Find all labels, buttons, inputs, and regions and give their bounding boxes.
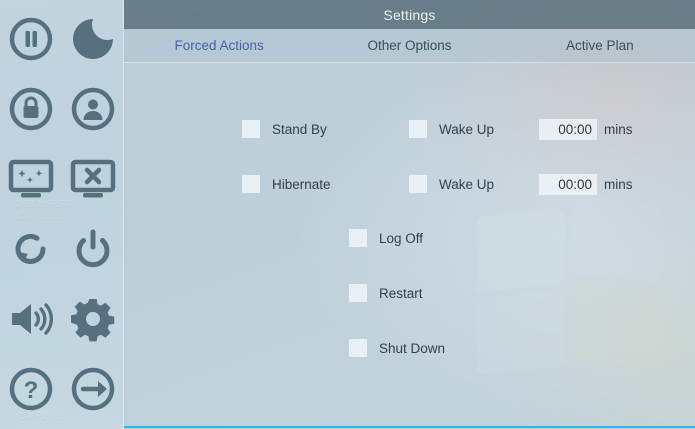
- user-icon: [70, 86, 116, 132]
- page-title: Settings: [383, 7, 435, 23]
- row-hibernate-timer: 00:00 mins: [539, 172, 633, 196]
- row-stand-by: Stand By: [242, 117, 327, 141]
- moon-icon: [70, 16, 116, 62]
- row-hibernate-wake: Wake Up: [409, 172, 494, 196]
- desktop-background: Freewa... OST to PST Converte... SMPlaye…: [0, 0, 695, 429]
- rail-button-lock[interactable]: [3, 81, 59, 137]
- hibernate-timer-units: mins: [604, 177, 633, 192]
- tab-bar: Forced Actions Other Options Active Plan: [124, 29, 695, 63]
- monitor-off-icon: [69, 157, 117, 201]
- restart-arrow-icon: [8, 226, 54, 272]
- rail-button-clean-screen[interactable]: [3, 151, 59, 207]
- arrow-right-icon: [70, 366, 116, 412]
- monitor-clean-icon: [7, 157, 55, 201]
- forced-actions-content: Stand By Wake Up 00:00 mins Hibernate: [124, 63, 695, 428]
- rail-button-help[interactable]: ?: [3, 361, 59, 417]
- pause-icon: [8, 16, 54, 62]
- shut-down-label: Shut Down: [379, 341, 445, 356]
- help-icon: ?: [8, 366, 54, 412]
- volume-icon: [7, 297, 55, 341]
- title-bar: Settings: [124, 0, 695, 29]
- row-shut-down: Shut Down: [349, 336, 445, 360]
- rail-button-settings[interactable]: [65, 291, 121, 347]
- row-stand-by-wake: Wake Up: [409, 117, 494, 141]
- icon-rail: ?: [0, 0, 124, 429]
- rail-button-volume[interactable]: [3, 291, 59, 347]
- restart-label: Restart: [379, 286, 423, 301]
- hibernate-checkbox[interactable]: [242, 175, 260, 193]
- gear-icon: [70, 296, 116, 342]
- stand-by-wake-option: Wake Up: [409, 120, 494, 138]
- stand-by-option: Stand By: [242, 120, 327, 138]
- stand-by-timer-units: mins: [604, 122, 633, 137]
- stand-by-wake-label: Wake Up: [439, 122, 494, 137]
- stand-by-timer-input[interactable]: 00:00: [539, 119, 597, 140]
- hibernate-label: Hibernate: [272, 177, 331, 192]
- tab-other-options[interactable]: Other Options: [314, 38, 504, 53]
- rail-button-log-off[interactable]: [65, 361, 121, 417]
- svg-text:?: ?: [24, 377, 39, 404]
- rail-button-turn-off-monitor[interactable]: [65, 151, 121, 207]
- rail-button-switch-user[interactable]: [65, 81, 121, 137]
- restart-checkbox[interactable]: [349, 284, 367, 302]
- rail-button-power[interactable]: [65, 221, 121, 277]
- hibernate-option: Hibernate: [242, 175, 331, 193]
- stand-by-wake-checkbox[interactable]: [409, 120, 427, 138]
- hibernate-wake-label: Wake Up: [439, 177, 494, 192]
- shut-down-checkbox[interactable]: [349, 339, 367, 357]
- row-log-off: Log Off: [349, 226, 423, 250]
- tab-forced-actions[interactable]: Forced Actions: [124, 38, 314, 53]
- tab-active-plan[interactable]: Active Plan: [505, 38, 695, 53]
- row-hibernate: Hibernate: [242, 172, 331, 196]
- settings-panel: Settings Forced Actions Other Options Ac…: [124, 0, 695, 429]
- lock-icon: [8, 86, 54, 132]
- log-off-checkbox[interactable]: [349, 229, 367, 247]
- hibernate-wake-checkbox[interactable]: [409, 175, 427, 193]
- stand-by-label: Stand By: [272, 122, 327, 137]
- power-icon: [70, 226, 116, 272]
- row-stand-by-timer: 00:00 mins: [539, 117, 633, 141]
- rail-button-pause[interactable]: [3, 11, 59, 67]
- log-off-label: Log Off: [379, 231, 423, 246]
- hibernate-wake-option: Wake Up: [409, 175, 494, 193]
- row-restart: Restart: [349, 281, 423, 305]
- rail-button-sleep[interactable]: [65, 11, 121, 67]
- stand-by-checkbox[interactable]: [242, 120, 260, 138]
- rail-button-restart[interactable]: [3, 221, 59, 277]
- hibernate-timer-input[interactable]: 00:00: [539, 174, 597, 195]
